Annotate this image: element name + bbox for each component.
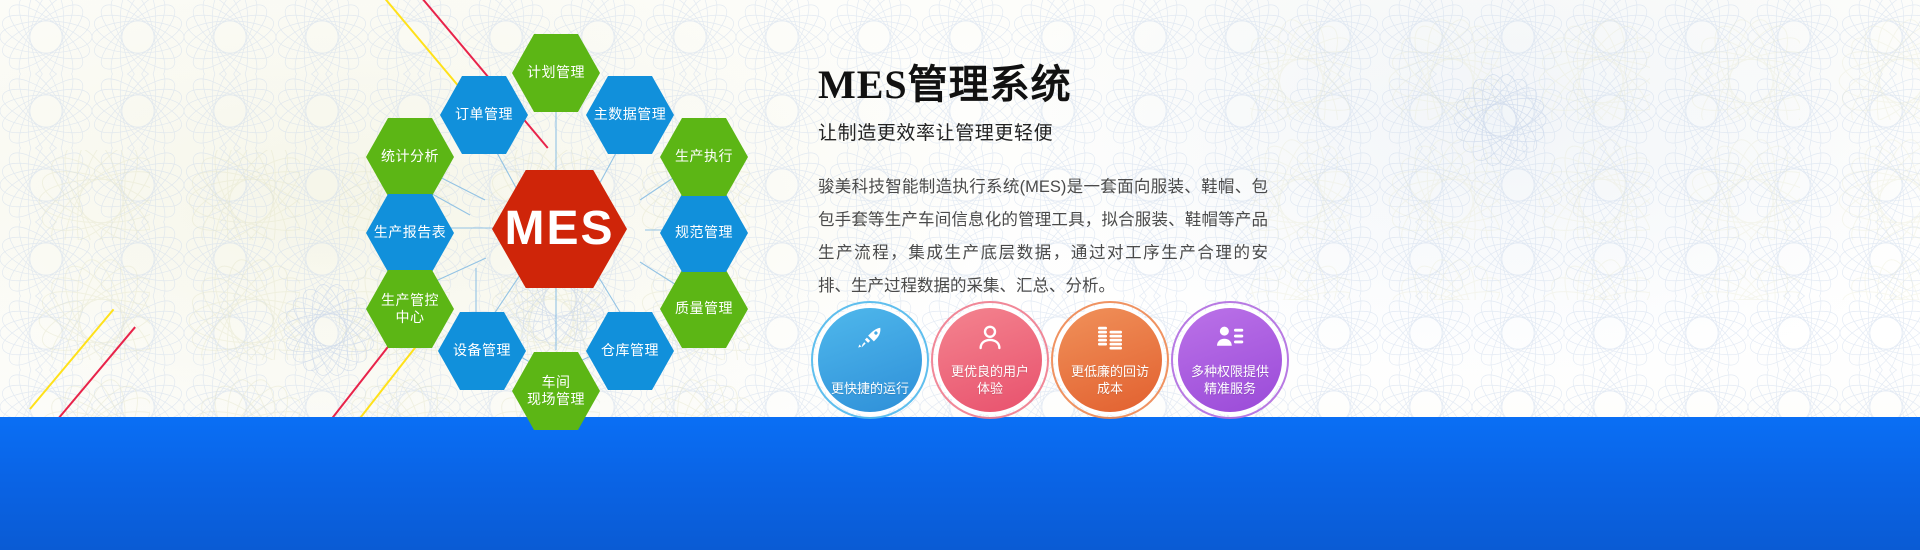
badge-label: 更快捷的运行 <box>831 380 909 398</box>
feature-badge-faster-operation[interactable]: 更快捷的运行 <box>818 308 922 412</box>
hex-label: 订单管理 <box>449 106 519 123</box>
description-paragraph: 骏美科技智能制造执行系统(MES)是一套面向服装、鞋帽、包包手套等生产车间信息化… <box>818 171 1268 303</box>
user-icon <box>973 321 1007 355</box>
feature-badge-multi-permission[interactable]: 多种权限提供 精准服务 <box>1178 308 1282 412</box>
hex-label: 质量管理 <box>669 300 739 317</box>
hex-label: 规范管理 <box>669 224 739 241</box>
mes-banner: MES 计划管理 订单管理 统计分析 生产报告表 生产管控 中心 设备管理 车间… <box>0 0 1920 550</box>
hex-label: 统计分析 <box>375 148 445 165</box>
feature-badge-better-user-experience[interactable]: 更优良的用户 体验 <box>938 308 1042 412</box>
coin-stack-icon <box>1093 321 1127 355</box>
rocket-icon <box>853 321 887 355</box>
page-subtitle: 让制造更效率让管理更轻便 <box>818 118 1338 145</box>
feature-badge-list: 更快捷的运行 更优良的用户 体验 <box>818 308 1282 412</box>
hex-label: 仓库管理 <box>595 342 665 359</box>
feature-badge-lower-revisit-cost[interactable]: 更低廉的回访 成本 <box>1058 308 1162 412</box>
badge-label: 更低廉的回访 成本 <box>1071 363 1149 398</box>
badge-label: 多种权限提供 精准服务 <box>1191 363 1269 398</box>
user-list-icon <box>1213 321 1247 355</box>
headline-block: MES管理系统 让制造更效率让管理更轻便 骏美科技智能制造执行系统(MES)是一… <box>818 62 1338 303</box>
hex-label-center: MES <box>498 200 620 259</box>
page-title: MES管理系统 <box>818 62 1338 108</box>
hex-label: 主数据管理 <box>588 106 673 123</box>
hex-label: 生产报告表 <box>368 224 453 241</box>
hex-label: 设备管理 <box>447 342 517 359</box>
hex-label: 计划管理 <box>521 64 591 81</box>
hex-label: 车间 现场管理 <box>521 374 591 408</box>
hex-label: 生产管控 中心 <box>375 292 445 326</box>
badge-label: 更优良的用户 体验 <box>951 363 1029 398</box>
hex-label: 生产执行 <box>669 148 739 165</box>
